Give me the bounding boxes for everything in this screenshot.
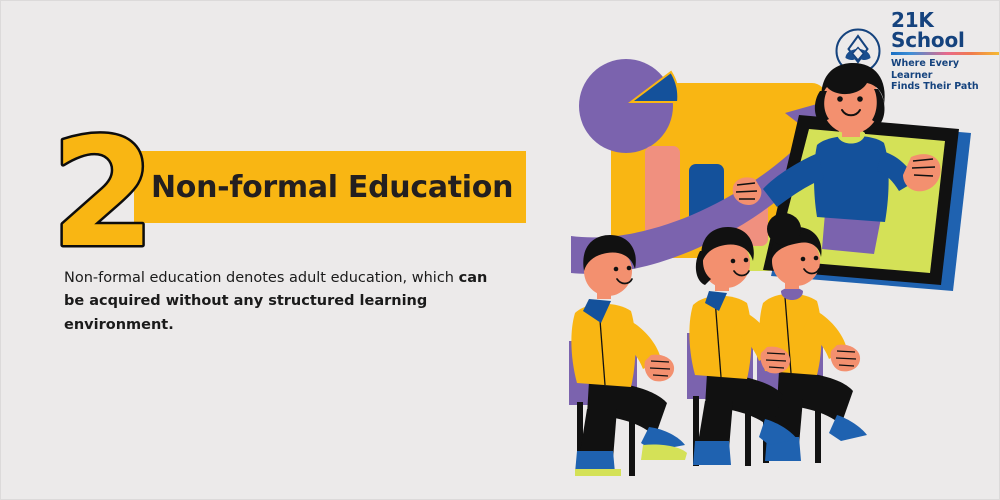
body-paragraph: Non-formal education denotes adult educa… — [64, 267, 504, 337]
online-learning-illustration — [541, 41, 1000, 500]
slide-root: 21K School Where Every Learner Finds The… — [0, 0, 1000, 500]
step-number: 2 — [49, 127, 159, 255]
seated-student-1 — [569, 235, 687, 476]
body-plain-text: Non-formal education denotes adult educa… — [64, 270, 459, 286]
page-title: Non-formal Education — [151, 151, 531, 223]
svg-text:2: 2 — [51, 127, 155, 255]
